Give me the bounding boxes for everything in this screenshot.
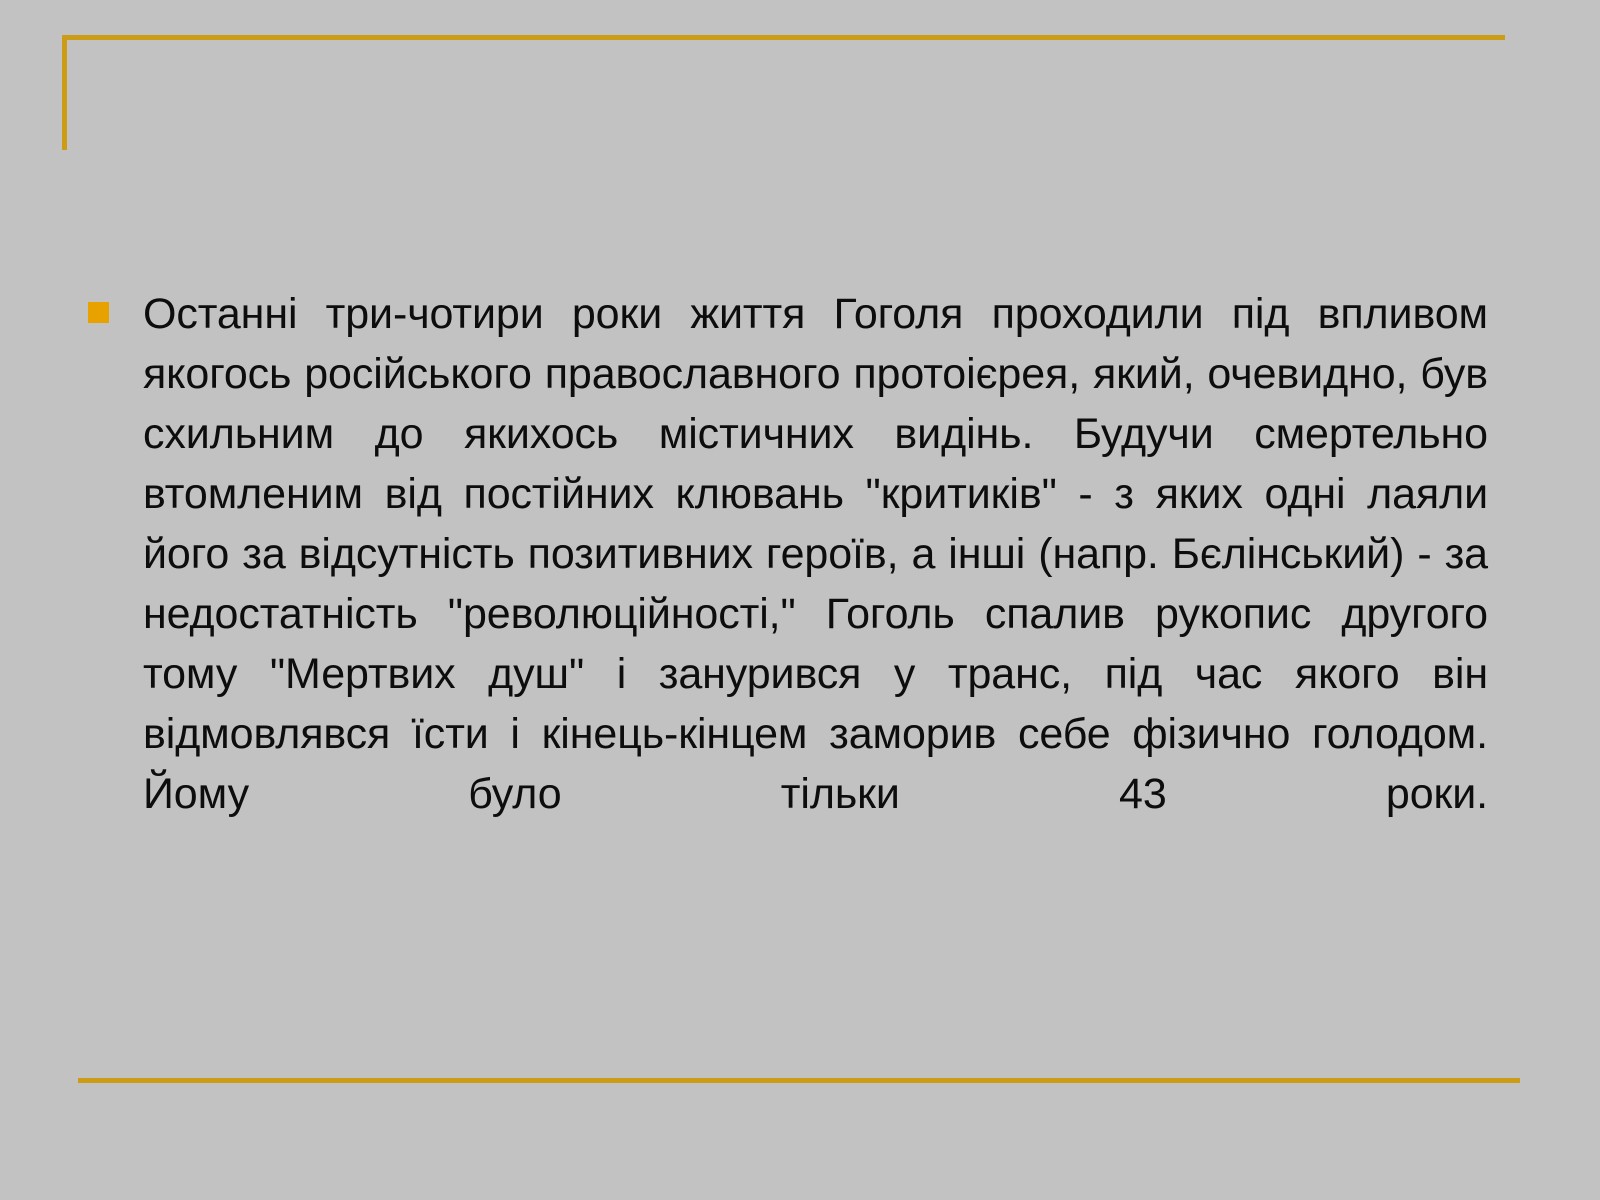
top-gold-rule: [62, 35, 1505, 40]
bullet-item-text: Останні три-чотири роки життя Гоголя про…: [143, 284, 1488, 884]
slide-canvas: Останні три-чотири роки життя Гоголя про…: [0, 0, 1600, 1200]
square-bullet-icon: [88, 302, 109, 323]
bottom-gold-rule: [78, 1078, 1520, 1083]
bullet-list-item: Останні три-чотири роки життя Гоголя про…: [88, 284, 1488, 884]
left-gold-rule: [62, 35, 67, 150]
slide-body: Останні три-чотири роки життя Гоголя про…: [88, 284, 1488, 884]
